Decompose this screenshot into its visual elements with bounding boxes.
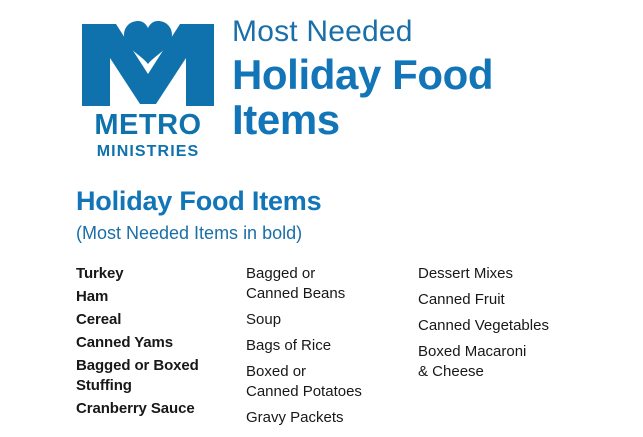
food-item: Bagged or Canned Beans: [246, 264, 414, 304]
food-item: Ham: [76, 287, 241, 307]
food-item: Boxed or Canned Potatoes: [246, 362, 414, 402]
m-with-heart-icon: [80, 18, 216, 106]
food-item: Turkey: [76, 264, 241, 284]
poster-header: METRO MINISTRIES Most Needed Holiday Foo…: [0, 0, 643, 172]
eyebrow-text: Most Needed: [232, 14, 632, 50]
food-item: Gravy Packets: [246, 408, 414, 428]
section-heading-block: Holiday Food Items (Most Needed Items in…: [76, 186, 616, 244]
food-item: Boxed Macaroni & Cheese: [418, 342, 633, 382]
metro-ministries-logo: METRO MINISTRIES: [80, 18, 216, 163]
title-block: Most Needed Holiday Food Items: [232, 14, 632, 142]
item-column-2: Bagged or Canned BeansSoupBags of RiceBo…: [246, 264, 414, 434]
logo-wordmark: METRO: [80, 110, 216, 140]
section-title: Holiday Food Items: [76, 186, 616, 216]
food-item: Canned Vegetables: [418, 316, 633, 336]
logo-wordmark-sub: MINISTRIES: [80, 143, 216, 160]
food-item: Soup: [246, 310, 414, 330]
food-item: Canned Yams: [76, 333, 241, 353]
poster-page: METRO MINISTRIES Most Needed Holiday Foo…: [0, 0, 643, 437]
food-item: Bagged or Boxed Stuffing: [76, 356, 241, 396]
item-column-3: Dessert MixesCanned FruitCanned Vegetabl…: [418, 264, 633, 388]
page-title: Holiday Food Items: [232, 52, 632, 142]
section-note: (Most Needed Items in bold): [76, 222, 616, 244]
food-item: Cereal: [76, 310, 241, 330]
food-item-columns: TurkeyHamCerealCanned YamsBagged or Boxe…: [76, 264, 636, 429]
food-item: Bags of Rice: [246, 336, 414, 356]
food-item: Cranberry Sauce: [76, 399, 241, 419]
food-item: Canned Fruit: [418, 290, 633, 310]
item-column-1: TurkeyHamCerealCanned YamsBagged or Boxe…: [76, 264, 241, 422]
food-item: Dessert Mixes: [418, 264, 633, 284]
